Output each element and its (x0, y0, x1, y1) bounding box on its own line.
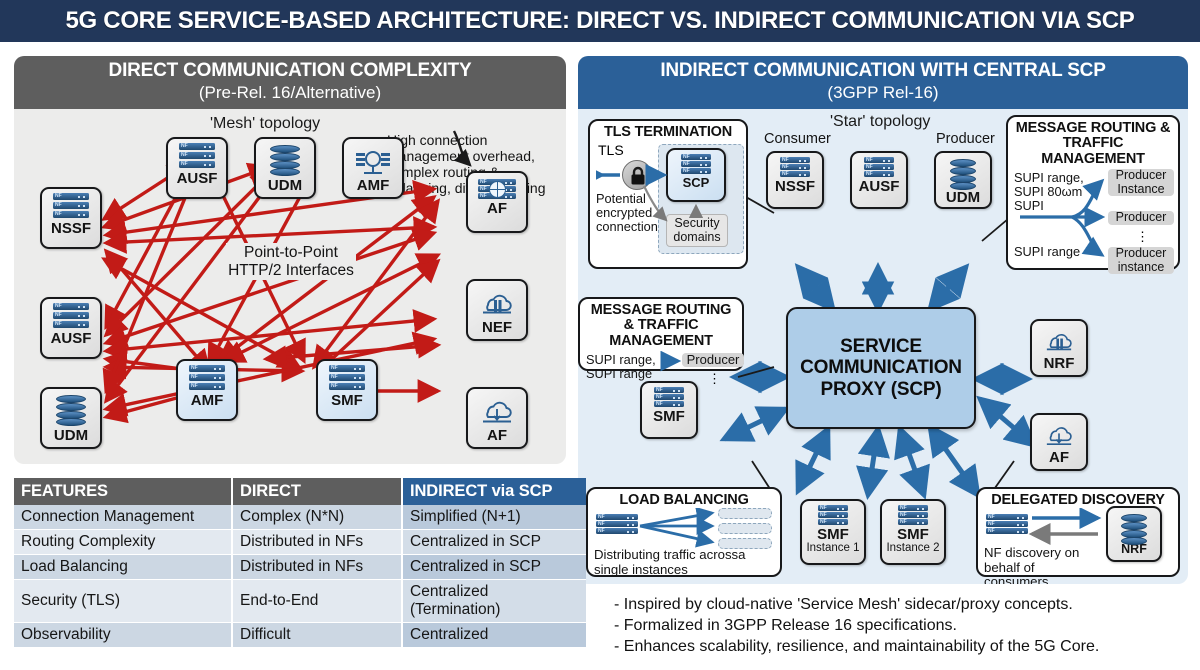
server-stack-icon (53, 193, 89, 220)
node-nssf-star[interactable]: NSSF (766, 151, 824, 209)
cell-feature: Load Balancing (14, 555, 232, 580)
node-ausf-top[interactable]: AUSF (166, 137, 228, 199)
node-udm-star[interactable]: UDM (934, 151, 992, 209)
cloud-af-icon (479, 397, 515, 427)
database-icon (950, 159, 976, 189)
node-label: AUSF (177, 171, 218, 186)
node-label: NRF (1044, 356, 1075, 371)
node-nef[interactable]: NEF (466, 279, 528, 341)
table-header-direct: DIRECT (232, 478, 402, 505)
node-label: AF (1049, 450, 1069, 465)
node-label: NSSF (775, 179, 815, 194)
node-smf-instance-2[interactable]: SMF Instance 2 (880, 499, 946, 565)
server-stack-icon (53, 303, 89, 330)
node-label: NSSF (51, 221, 91, 236)
cell-indirect: Simplified (N+1) (402, 505, 586, 530)
cloud-nrf-icon (1043, 329, 1075, 355)
direct-communication-panel: DIRECT COMMUNICATION COMPLEXITY (Pre-Rel… (14, 56, 566, 464)
node-af-bottom[interactable]: AF (466, 387, 528, 449)
cell-feature: Routing Complexity (14, 530, 232, 555)
delegated-discovery-note: NF discovery on behalf of consumers (984, 546, 1100, 584)
right-panel-title: INDIRECT COMMUNICATION WITH CENTRAL SCP (584, 61, 1182, 82)
point-to-point-line1: Point-to-Point (228, 244, 354, 262)
node-label: SMF (653, 409, 685, 424)
node-label: UDM (946, 190, 980, 205)
node-label: SMF (817, 527, 849, 542)
cell-direct: Difficult (232, 623, 402, 648)
cloud-af-icon (1043, 423, 1075, 449)
page-title: 5G CORE SERVICE-BASED ARCHITECTURE: DIRE… (66, 7, 1135, 35)
node-label: AUSF (51, 331, 92, 346)
bullet-item: - Inspired by cloud-native 'Service Mesh… (614, 594, 1194, 615)
node-label: NEF (482, 320, 512, 335)
node-ausf-star[interactable]: AUSF (850, 151, 908, 209)
cell-indirect: Centralized in SCP (402, 555, 586, 580)
table-row: Security (TLS) End-to-End Centralized (T… (14, 580, 586, 623)
delegated-discovery-arrows (984, 508, 1188, 550)
bullet-item: - Formalized in 3GPP Release 16 specific… (614, 615, 1194, 636)
cell-feature: Security (TLS) (14, 580, 232, 623)
routing-right-arrows (1014, 169, 1188, 291)
server-stack-icon (818, 505, 848, 526)
left-panel-subtitle: (Pre-Rel. 16/Alternative) (20, 83, 560, 103)
load-balancing-arrows (594, 508, 790, 552)
consumer-label: Consumer (764, 131, 831, 148)
node-udm-left[interactable]: UDM (40, 387, 102, 449)
server-stack-icon (654, 387, 684, 408)
database-icon (270, 145, 300, 177)
node-nrf-star[interactable]: NRF (1030, 319, 1088, 377)
service-communication-proxy-box[interactable]: SERVICE COMMUNICATION PROXY (SCP) (786, 307, 976, 429)
message-routing-right-box: MESSAGE ROUTING & TRAFFIC MANAGEMENT SUP… (1006, 115, 1180, 270)
node-label: UDM (268, 178, 302, 193)
cell-direct: Complex (N*N) (232, 505, 402, 530)
node-af-star[interactable]: AF (1030, 413, 1088, 471)
smf-instance-2-sub: Instance 2 (886, 542, 939, 554)
node-label: UDM (54, 428, 88, 443)
message-routing-left-box: MESSAGE ROUTING & TRAFFIC MANAGEMENT SUP… (578, 297, 744, 371)
cell-indirect: Centralized in SCP (402, 530, 586, 555)
summary-bullet-list: - Inspired by cloud-native 'Service Mesh… (614, 594, 1194, 657)
cell-indirect: Centralized (Termination) (402, 580, 586, 623)
server-stack-icon (179, 143, 215, 170)
indirect-communication-panel: INDIRECT COMMUNICATION WITH CENTRAL SCP … (578, 56, 1188, 584)
table-header-row: FEATURES DIRECT INDIRECT via SCP (14, 478, 586, 505)
server-stack-icon (189, 365, 225, 392)
node-udm-top[interactable]: UDM (254, 137, 316, 199)
node-smf-star[interactable]: SMF (640, 381, 698, 439)
point-to-point-note: Point-to-Point HTTP/2 Interfaces (226, 243, 356, 280)
cell-indirect: Centralized (402, 623, 586, 648)
point-to-point-line2: HTTP/2 Interfaces (228, 262, 354, 280)
node-af-top[interactable]: AF (466, 171, 528, 233)
left-panel-title: DIRECT COMMUNICATION COMPLEXITY (20, 61, 560, 82)
feature-comparison-table: FEATURES DIRECT INDIRECT via SCP Connect… (14, 478, 586, 648)
left-panel-header: DIRECT COMMUNICATION COMPLEXITY (Pre-Rel… (14, 56, 566, 109)
node-ausf-left[interactable]: AUSF (40, 297, 102, 359)
table-header-indirect: INDIRECT via SCP (402, 478, 586, 505)
globe-server-icon (478, 179, 516, 200)
node-smf[interactable]: SMF (316, 359, 378, 421)
node-label: AUSF (859, 179, 900, 194)
node-label: AF (487, 201, 507, 216)
producer-label: Producer (936, 131, 995, 148)
node-amf-bottom[interactable]: AMF (176, 359, 238, 421)
cell-direct: Distributed in NFs (232, 530, 402, 555)
database-icon (56, 395, 86, 427)
node-amf-top[interactable]: AMF (342, 137, 404, 199)
tls-connector-arrows (596, 140, 756, 260)
node-nssf[interactable]: NSSF (40, 187, 102, 249)
node-label: SMF (897, 527, 929, 542)
node-label: SMF (331, 393, 363, 408)
node-smf-instance-1[interactable]: SMF Instance 1 (800, 499, 866, 565)
server-stack-icon (864, 157, 894, 178)
tls-termination-title: TLS TERMINATION (596, 125, 740, 140)
load-balancing-note: Distributing traffic acrossa single inst… (594, 548, 774, 577)
amf-ring-icon (354, 147, 392, 177)
cloud-nef-icon (479, 289, 515, 319)
tls-termination-box: TLS TERMINATION SCP Security domains TLS… (588, 119, 748, 269)
page-title-bar: 5G CORE SERVICE-BASED ARCHITECTURE: DIRE… (0, 0, 1200, 42)
cell-direct: End-to-End (232, 580, 402, 623)
star-topology-label: 'Star' topology (830, 113, 930, 131)
table-row: Load Balancing Distributed in NFs Centra… (14, 555, 586, 580)
server-stack-icon (780, 157, 810, 178)
message-routing-right-title: MESSAGE ROUTING & TRAFFIC MANAGEMENT (1014, 121, 1172, 167)
message-routing-left-title: MESSAGE ROUTING & TRAFFIC MANAGEMENT (586, 303, 736, 349)
server-stack-icon (898, 505, 928, 526)
mesh-topology-label: 'Mesh' topology (210, 115, 320, 133)
cell-feature: Observability (14, 623, 232, 648)
table-row: Observability Difficult Centralized (14, 623, 586, 648)
table-header-features: FEATURES (14, 478, 232, 505)
table-row: Routing Complexity Distributed in NFs Ce… (14, 530, 586, 555)
node-label: AF (487, 428, 507, 443)
cell-direct: Distributed in NFs (232, 555, 402, 580)
left-panel-body: 'Mesh' topology High connection manageme… (14, 109, 566, 464)
node-label: AMF (191, 393, 224, 408)
right-panel-subtitle: (3GPP Rel-16) (584, 83, 1182, 103)
table-row: Connection Management Complex (N*N) Simp… (14, 505, 586, 530)
right-panel-body: 'Star' topology TLS TERMINATION SCP Secu… (578, 109, 1188, 584)
server-stack-icon (329, 365, 365, 392)
cell-feature: Connection Management (14, 505, 232, 530)
bullet-item: - Enhances scalability, resilience, and … (614, 636, 1194, 657)
right-panel-header: INDIRECT COMMUNICATION WITH CENTRAL SCP … (578, 56, 1188, 109)
load-balancing-box: LOAD BALANCING Distributing traffic acro… (586, 487, 782, 577)
load-balancing-title: LOAD BALANCING (594, 493, 774, 508)
node-label: AMF (357, 178, 390, 193)
smf-instance-1-sub: Instance 1 (806, 542, 859, 554)
delegated-discovery-box: DELEGATED DISCOVERY NRF NF discovery on … (976, 487, 1180, 577)
scp-box-label: SERVICE COMMUNICATION PROXY (SCP) (788, 336, 974, 400)
